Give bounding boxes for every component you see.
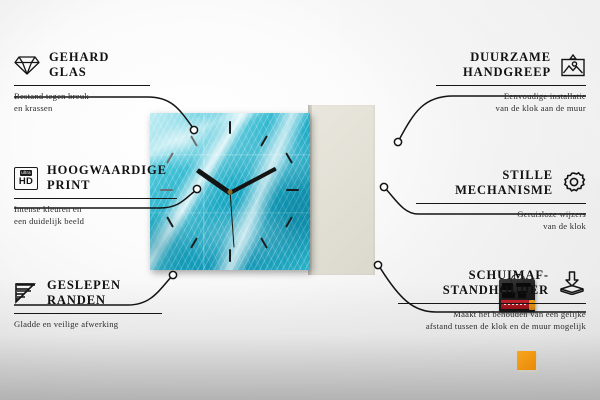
picture-frame-icon (560, 54, 586, 77)
feature-title-line1: HOOGWAARDIGE (47, 163, 167, 178)
feature-title-line2: RANDEN (47, 293, 121, 308)
feature-title-line2: STANDHOUDER (443, 283, 549, 298)
gear-icon (562, 171, 586, 195)
feature-rule (398, 303, 586, 304)
feature-duurzame-handgreep: DUURZAME HANDGREEP Eenvoudige installati… (436, 50, 586, 115)
clock-hands-hub (228, 189, 233, 194)
feature-desc-line2: een duidelijk beeld (14, 215, 184, 227)
infographic-canvas: GEHARD GLAS Bestand tegen breuk en krass… (0, 0, 600, 400)
feature-stille-mechanisme: STILLE MECHANISME Geruisloze wijzers van… (416, 168, 586, 233)
feature-desc-line1: Eenvoudige installatie (436, 90, 586, 102)
feature-desc-line1: Intense kleuren en (14, 203, 184, 215)
tick-12 (229, 121, 231, 134)
ultra-hd-badge-icon: ultra HD (14, 167, 38, 190)
feature-title-line1: GESLEPEN (47, 278, 121, 293)
feature-desc-line1: Maakt het behouden van een gelijke (398, 308, 586, 320)
feature-desc-line2: afstand tussen de klok en de muur mogeli… (398, 320, 586, 332)
feature-title-line1: GEHARD (49, 50, 109, 65)
feature-title-line1: SCHUIMAF- (443, 268, 549, 283)
feature-hoogwaardige-print: ultra HD HOOGWAARDIGE PRINT Intense kleu… (14, 163, 184, 228)
feature-rule (14, 85, 150, 86)
feature-geslepen-randen: GESLEPEN RANDEN Gladde en veilige afwerk… (14, 278, 174, 330)
feature-desc-line1: Bestand tegen breuk (14, 90, 164, 102)
diamond-icon (14, 54, 40, 76)
feature-gehard-glas: GEHARD GLAS Bestand tegen breuk en krass… (14, 50, 164, 115)
feature-desc-line2: van de klok (416, 220, 586, 232)
feature-desc-line2: en krassen (14, 102, 164, 114)
feature-rule (14, 313, 162, 314)
feature-rule (14, 198, 177, 199)
foam-spacer-pad (517, 351, 536, 370)
feature-title-line2: HANDGREEP (463, 65, 551, 80)
down-arrow-plate-icon (558, 271, 586, 295)
feature-title-line1: DUURZAME (463, 50, 551, 65)
feature-title-line2: GLAS (49, 65, 109, 80)
feature-rule (436, 85, 586, 86)
diagonal-lines-icon (14, 282, 38, 304)
feature-title-line2: MECHANISME (455, 183, 553, 198)
feature-desc-line1: Geruisloze wijzers (416, 208, 586, 220)
feature-schuimaf-standhouder: SCHUIMAF- STANDHOUDER Maakt het behouden… (398, 268, 586, 333)
tick-3 (286, 189, 299, 191)
feature-title-line2: PRINT (47, 178, 167, 193)
hd-badge-hd-text: HD (19, 177, 33, 187)
feature-rule (416, 203, 586, 204)
feature-title-line1: STILLE (455, 168, 553, 183)
wall-panel (310, 105, 375, 275)
feature-desc-line2: van de klok aan de muur (436, 102, 586, 114)
feature-desc-line1: Gladde en veilige afwerking (14, 318, 174, 330)
tick-6 (229, 249, 231, 262)
hd-badge-ultra-text: ultra (20, 170, 33, 175)
